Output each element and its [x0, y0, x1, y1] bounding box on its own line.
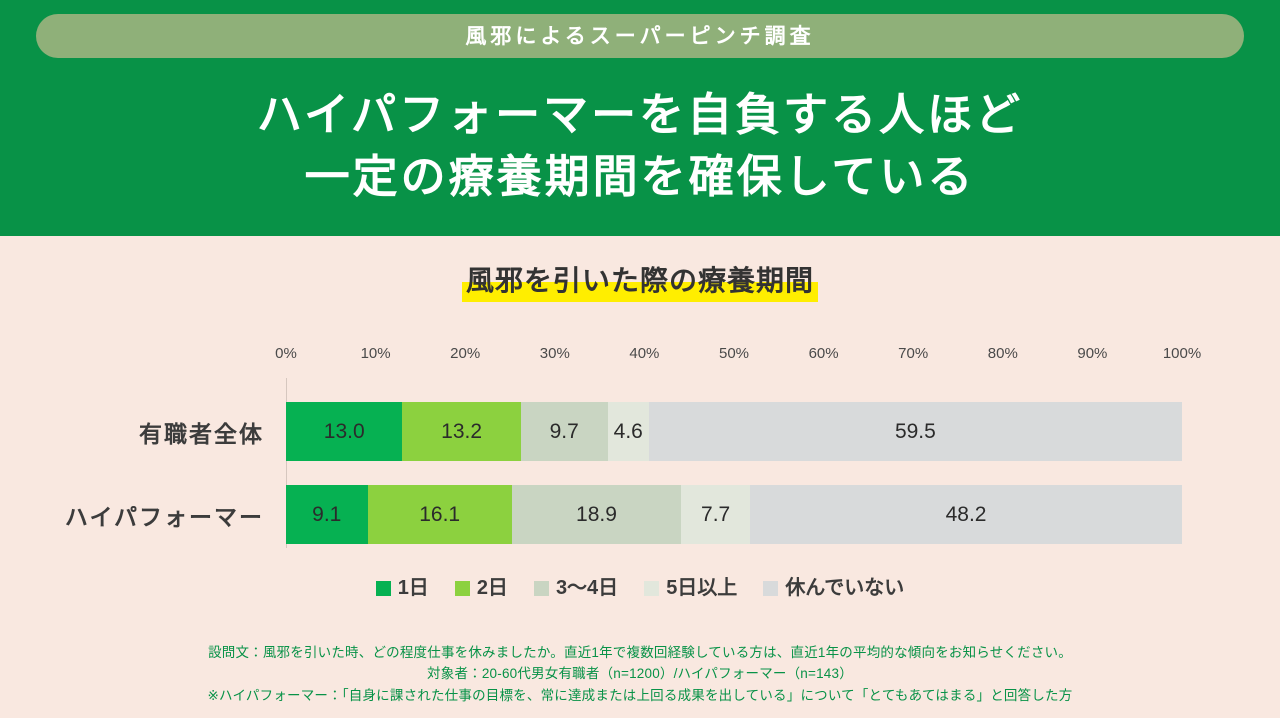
x-axis-tick-70: 70% — [898, 345, 928, 363]
legend-label: 休んでいない — [785, 578, 904, 598]
x-axis-tick-100: 100% — [1163, 345, 1201, 363]
bar-segment: 7.7 — [681, 485, 750, 544]
footnote-line: 対象者：20-60代男女有職者（n=1200）/ハイパフォーマー（n=143） — [0, 663, 1280, 684]
footnote-line: 設問文：風邪を引いた時、どの程度仕事を休みましたか。直近1年で複数回経験している… — [0, 642, 1280, 663]
legend-swatch-icon — [455, 581, 470, 596]
legend-swatch-icon — [534, 581, 549, 596]
legend-swatch-icon — [376, 581, 391, 596]
chart-legend: 1日2日3〜4日5日以上休んでいない — [0, 578, 1280, 598]
x-axis-tick-20: 20% — [450, 345, 480, 363]
headline-line-1: ハイパフォーマーを自負する人ほど — [0, 84, 1280, 146]
bar-segment: 48.2 — [750, 485, 1182, 544]
bar-segment-value: 13.0 — [324, 421, 365, 442]
x-axis-tick-labels: 0%10%20%30%40%50%60%70%80%90%100% — [0, 345, 1280, 371]
bar-segment: 59.5 — [649, 402, 1182, 461]
bar-segment-value: 18.9 — [576, 504, 617, 525]
chart-title-text: 風邪を引いた際の療養期間 — [466, 265, 814, 296]
footnotes: 設問文：風邪を引いた時、どの程度仕事を休みましたか。直近1年で複数回経験している… — [0, 642, 1280, 706]
bar-segment-value: 16.1 — [419, 504, 460, 525]
infographic-page: 風邪によるスーパーピンチ調査 ハイパフォーマーを自負する人ほど 一定の療養期間を… — [0, 0, 1280, 718]
legend-swatch-icon — [644, 581, 659, 596]
header-banner: 風邪によるスーパーピンチ調査 ハイパフォーマーを自負する人ほど 一定の療養期間を… — [0, 0, 1280, 236]
bar-segment: 18.9 — [512, 485, 681, 544]
bar-segment: 9.7 — [521, 402, 608, 461]
bar-row-label: 有職者全体 — [139, 402, 264, 461]
x-axis-tick-80: 80% — [988, 345, 1018, 363]
x-axis-tick-30: 30% — [540, 345, 570, 363]
legend-label: 5日以上 — [666, 578, 737, 598]
chart-title-container: 風邪を引いた際の療養期間 — [0, 264, 1280, 302]
bar-track: 13.013.29.74.659.5 — [286, 402, 1182, 461]
bar-segment-value: 7.7 — [701, 504, 730, 525]
bar-segment: 4.6 — [608, 402, 649, 461]
legend-item: 5日以上 — [644, 578, 737, 598]
survey-badge: 風邪によるスーパーピンチ調査 — [36, 14, 1244, 58]
bar-segment: 16.1 — [368, 485, 512, 544]
legend-swatch-icon — [763, 581, 778, 596]
headline-line-2: 一定の療養期間を確保している — [0, 146, 1280, 208]
bar-segment-value: 9.1 — [312, 504, 341, 525]
legend-item: 3〜4日 — [534, 578, 618, 598]
legend-label: 1日 — [398, 578, 429, 598]
survey-badge-label: 風邪によるスーパーピンチ調査 — [465, 26, 814, 47]
page-title: ハイパフォーマーを自負する人ほど 一定の療養期間を確保している — [0, 84, 1280, 208]
x-axis-tick-40: 40% — [629, 345, 659, 363]
legend-item: 休んでいない — [763, 578, 904, 598]
stacked-bar-chart: 0%10%20%30%40%50%60%70%80%90%100% 有職者全体1… — [0, 345, 1280, 560]
legend-item: 2日 — [455, 578, 508, 598]
bar-segment: 13.2 — [402, 402, 520, 461]
bar-row-label: ハイパフォーマー — [65, 485, 264, 544]
bar-segment: 9.1 — [286, 485, 368, 544]
legend-label: 2日 — [477, 578, 508, 598]
x-axis-tick-50: 50% — [719, 345, 749, 363]
legend-label: 3〜4日 — [556, 578, 618, 598]
bar-row: 有職者全体13.013.29.74.659.5 — [0, 402, 1280, 461]
x-axis-tick-10: 10% — [361, 345, 391, 363]
bar-segment-value: 13.2 — [441, 421, 482, 442]
bar-track: 9.116.118.97.748.2 — [286, 485, 1182, 544]
bar-row: ハイパフォーマー9.116.118.97.748.2 — [0, 485, 1280, 544]
bar-segment: 13.0 — [286, 402, 402, 461]
x-axis-tick-0: 0% — [275, 345, 297, 363]
footnote-line: ※ハイパフォーマー：「自身に課された仕事の目標を、常に達成または上回る成果を出し… — [0, 685, 1280, 706]
bar-segment-value: 9.7 — [550, 421, 579, 442]
bar-segment-value: 59.5 — [895, 421, 936, 442]
x-axis-tick-90: 90% — [1077, 345, 1107, 363]
bar-segment-value: 48.2 — [946, 504, 987, 525]
bar-segment-value: 4.6 — [614, 421, 643, 442]
x-axis-tick-60: 60% — [809, 345, 839, 363]
chart-title: 風邪を引いた際の療養期間 — [462, 264, 818, 302]
legend-item: 1日 — [376, 578, 429, 598]
